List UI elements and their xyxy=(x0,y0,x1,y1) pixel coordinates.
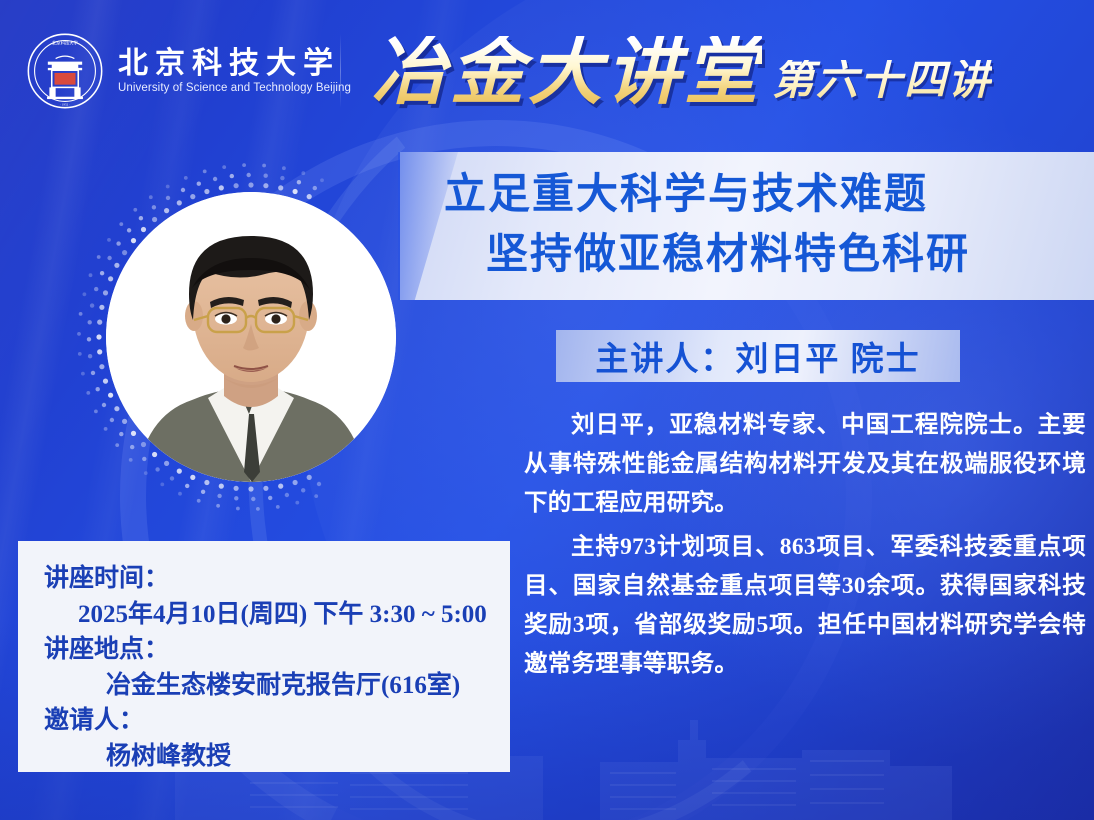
lecture-title-band: 立足重大科学与技术难题 坚持做亚稳材料特色科研 xyxy=(400,152,1094,300)
ustb-seal-icon: 北京科技大学 · 1952 · xyxy=(26,32,104,110)
header-divider xyxy=(340,34,341,108)
bio-paragraph-2: 主持973计划项目、863项目、军委科技委重点项目、国家自然基金重点项目等30余… xyxy=(524,528,1086,683)
avatar xyxy=(106,192,396,482)
series-title: 冶金大讲堂 xyxy=(372,36,762,110)
svg-text:北京科技大学: 北京科技大学 xyxy=(52,39,78,46)
lecture-title-line-2: 坚持做亚稳材料特色科研 xyxy=(444,226,1068,286)
lecture-place-value: 冶金生态楼安耐克报告厅(616室) xyxy=(44,668,486,704)
university-name-en: University of Science and Technology Bei… xyxy=(118,82,351,94)
speaker-portrait-wrap xyxy=(106,192,396,482)
svg-text:· 1952 ·: · 1952 · xyxy=(60,102,70,106)
event-info-box: 讲座时间： 2025年4月10日(周四) 下午 3:30 ~ 5:00 讲座地点… xyxy=(18,541,510,772)
lecture-time-value: 2025年4月10日(周四) 下午 3:30 ~ 5:00 xyxy=(44,597,486,633)
lecture-host-label: 邀请人： xyxy=(44,703,486,739)
lecture-title-line-1: 立足重大科学与技术难题 xyxy=(444,166,1068,226)
bio-paragraph-1: 刘日平，亚稳材料专家、中国工程院院士。主要从事特殊性能金属结构材料开发及其在极端… xyxy=(524,406,1086,522)
speaker-banner: 主讲人：刘日平 院士 xyxy=(556,330,960,382)
series-number: 第六十四讲 xyxy=(772,60,992,110)
university-name-cn: 北京科技大学 xyxy=(118,48,351,80)
speaker-bio: 刘日平，亚稳材料专家、中国工程院院士。主要从事特殊性能金属结构材料开发及其在极端… xyxy=(524,406,1086,689)
lecture-poster: 北京科技大学 · 1952 · 北京科技大学 University of Sci… xyxy=(0,0,1094,820)
speaker-portrait-illustration xyxy=(106,192,396,482)
lecture-place-label: 讲座地点： xyxy=(44,632,486,668)
university-name-group: 北京科技大学 University of Science and Technol… xyxy=(118,48,351,94)
lecture-host-value: 杨树峰教授 xyxy=(44,739,486,775)
lecture-time-label: 讲座时间： xyxy=(44,561,486,597)
speaker-banner-text: 主讲人：刘日平 院士 xyxy=(595,332,920,380)
series-title-block: 冶金大讲堂 第六十四讲 xyxy=(372,36,992,110)
university-logo-block: 北京科技大学 · 1952 · 北京科技大学 University of Sci… xyxy=(26,32,351,110)
